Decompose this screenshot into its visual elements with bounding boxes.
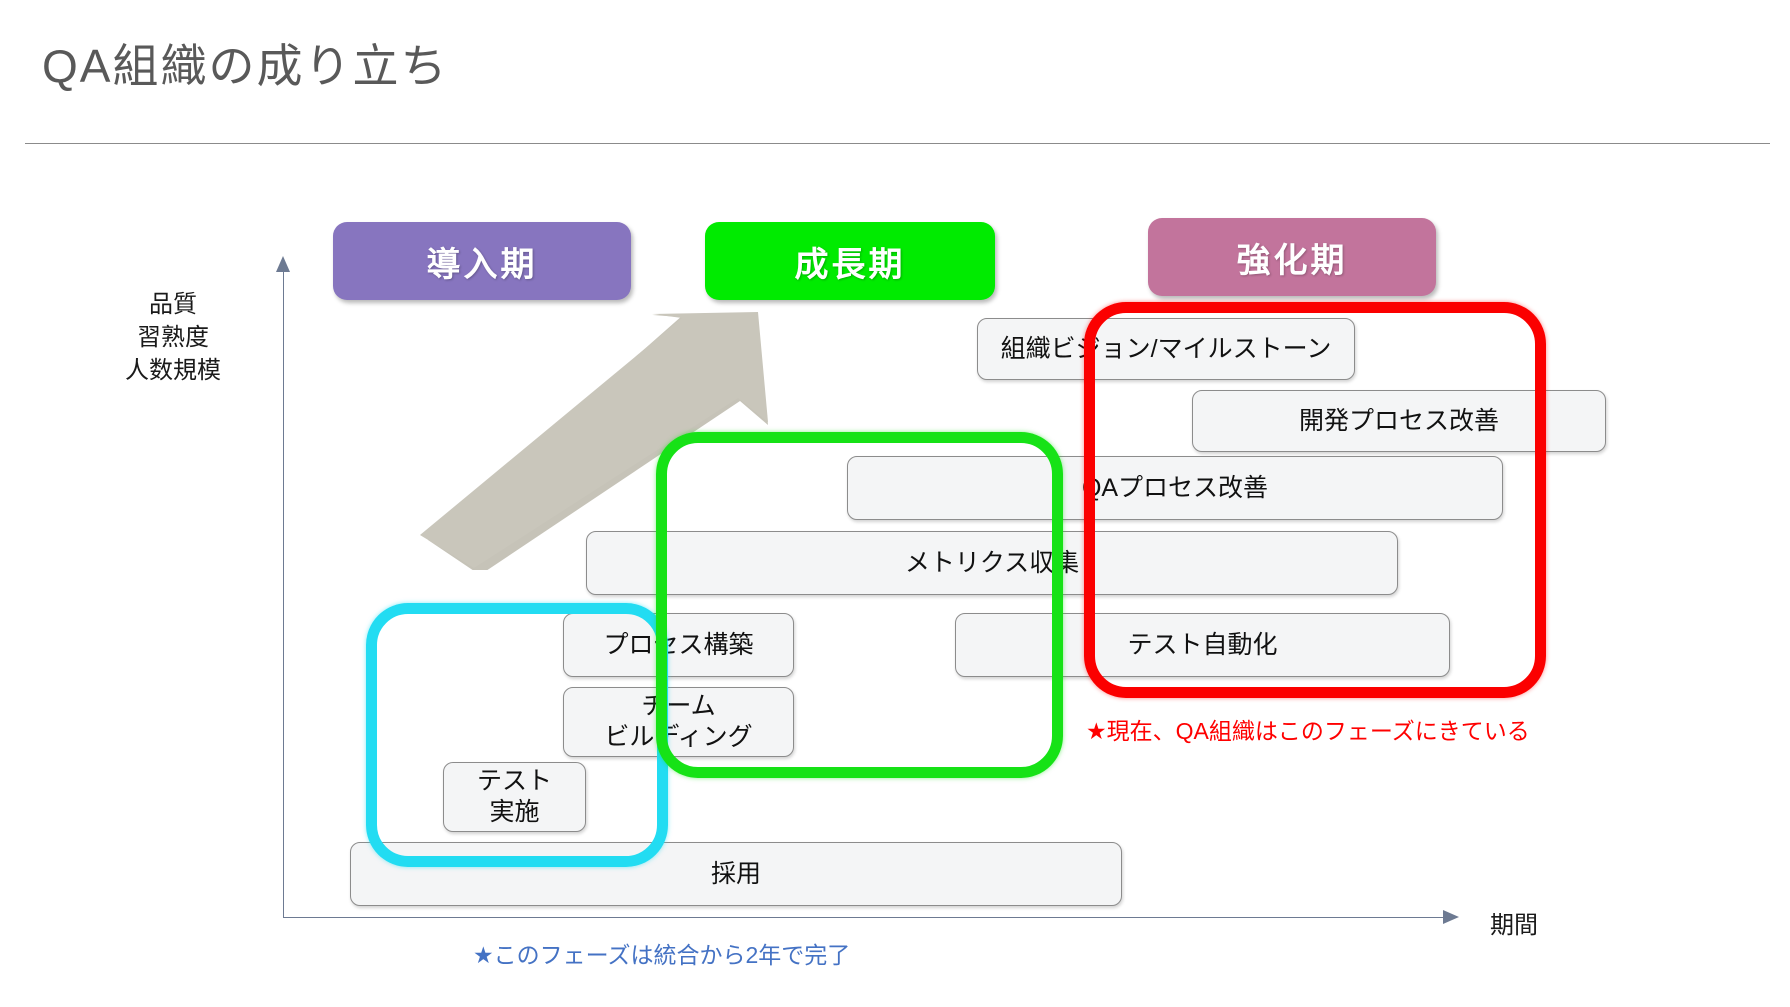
page-title: QA組織の成り立ち: [42, 30, 448, 96]
task-bar-metrics-collection[interactable]: メトリクス収集: [586, 531, 1398, 595]
task-bar-hiring[interactable]: 採用: [350, 842, 1122, 906]
x-axis-line: [283, 917, 1445, 918]
task-bar-qa-process-improvement[interactable]: QAプロセス改善: [847, 456, 1503, 520]
y-axis-label-line-3: 人数規模: [88, 354, 258, 387]
annotation-current-phase: ★現在、QA組織はこのフェーズにきている: [1086, 712, 1530, 746]
x-axis-label: 期間: [1490, 905, 1538, 940]
task-bar-test-execution-line-1: テスト: [477, 766, 552, 797]
task-bar-team-building-line-2: ビルディング: [604, 722, 752, 753]
phase-chip-growth[interactable]: 成長期: [705, 222, 995, 300]
task-bar-test-execution-line-2: 実施: [489, 797, 539, 828]
phase-chip-reinforcement[interactable]: 強化期: [1148, 218, 1436, 296]
phase-chip-introduction[interactable]: 導入期: [333, 222, 631, 300]
task-bar-process-building[interactable]: プロセス構築: [563, 613, 794, 677]
annotation-phase-duration: ★このフェーズは統合から2年で完了: [473, 936, 850, 970]
task-bar-team-building[interactable]: チーム ビルディング: [563, 687, 794, 757]
title-divider: [25, 143, 1770, 144]
y-axis-label-line-2: 習熟度: [88, 321, 258, 354]
y-axis-line: [283, 268, 284, 918]
task-bar-team-building-line-1: チーム: [641, 691, 715, 722]
y-axis-arrowhead: [276, 256, 290, 272]
task-bar-test-automation[interactable]: テスト自動化: [955, 613, 1450, 677]
task-bar-org-vision-milestone[interactable]: 組織ビジョン/マイルストーン: [977, 318, 1355, 380]
x-axis-arrowhead: [1443, 910, 1459, 924]
task-bar-test-execution[interactable]: テスト 実施: [443, 762, 586, 832]
task-bar-dev-process-improvement[interactable]: 開発プロセス改善: [1192, 390, 1606, 452]
y-axis-label-line-1: 品質: [88, 288, 258, 321]
slide-canvas: QA組織の成り立ち 品質 習熟度 人数規模 期間 組織ビジョン/マイルストーン …: [0, 0, 1790, 1007]
y-axis-label: 品質 習熟度 人数規模: [88, 288, 258, 387]
